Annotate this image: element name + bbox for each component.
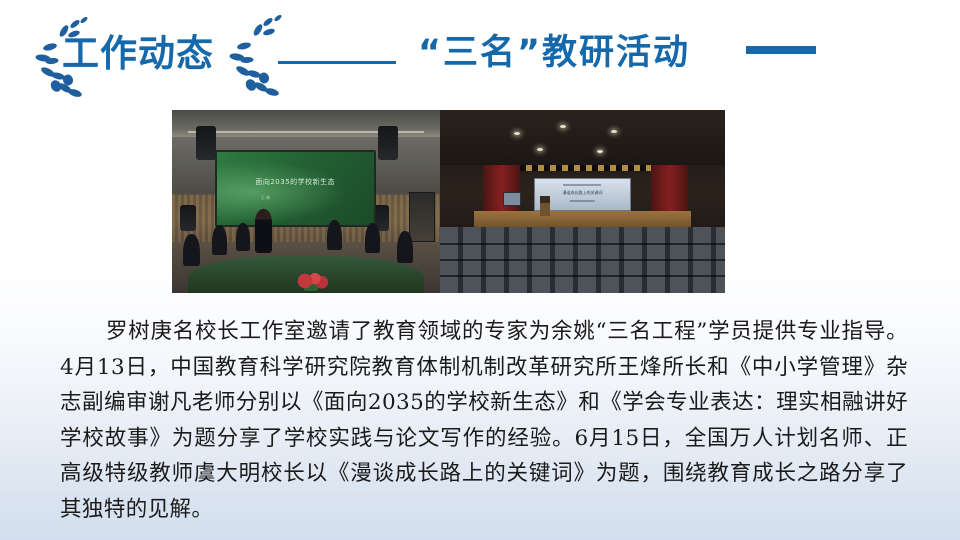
ceiling — [440, 110, 725, 165]
slide-header: 工作动态 “三名”教研活动 — [0, 0, 960, 110]
seat-row — [440, 275, 725, 277]
side-monitor — [503, 192, 521, 206]
seated-attendee — [365, 223, 380, 253]
projection-screen-title: 面向2035的学校新生态 — [255, 177, 335, 187]
body-paragraph: 罗树庚名校长工作室邀请了教育领域的专家为余姚“三名工程”学员提供专业指导。4月1… — [60, 314, 908, 527]
seated-attendee — [183, 234, 200, 266]
seat-row — [440, 259, 725, 261]
seated-attendee — [212, 225, 227, 255]
auditorium-photo: 漫谈成长路上的关键词 — [440, 110, 725, 293]
laurel-leaves-icon — [228, 14, 300, 100]
screen-accent-line — [564, 184, 602, 186]
ceiling-light-icon — [560, 125, 566, 128]
projection-screen: 面向2035的学校新生态 王 烽 — [215, 150, 376, 227]
ceiling-light-icon — [514, 132, 520, 135]
flower-arrangement — [293, 271, 333, 291]
screen-accent-line — [570, 200, 595, 202]
standing-presenter — [255, 209, 272, 253]
equipment-rack — [409, 192, 435, 242]
photo-gallery: 面向2035的学校新生态 王 烽 — [172, 110, 725, 293]
page-subtitle: “三名”教研活动 — [418, 30, 690, 76]
seated-attendee — [236, 223, 250, 251]
page-title: 工作动态 — [62, 31, 214, 77]
slide-canvas: 工作动态 “三名”教研活动 面向2035的学校新生态 王 烽 — [0, 0, 960, 540]
projection-screen-title: 漫谈成长路上的关键词 — [562, 190, 602, 196]
seated-attendee — [397, 231, 413, 263]
title-end-dash — [746, 46, 816, 54]
projection-screen-presenter: 王 烽 — [261, 195, 270, 201]
loudspeaker-icon — [378, 126, 398, 160]
stage-light-bar — [514, 165, 657, 171]
audience-seating — [440, 227, 725, 293]
podium-with-speaker — [540, 196, 550, 216]
loudspeaker-icon — [180, 205, 196, 231]
meeting-room-photo: 面向2035的学校新生态 王 烽 — [172, 110, 440, 293]
seat-row — [440, 243, 725, 245]
loudspeaker-icon — [196, 126, 216, 160]
title-divider-rule — [278, 61, 396, 64]
